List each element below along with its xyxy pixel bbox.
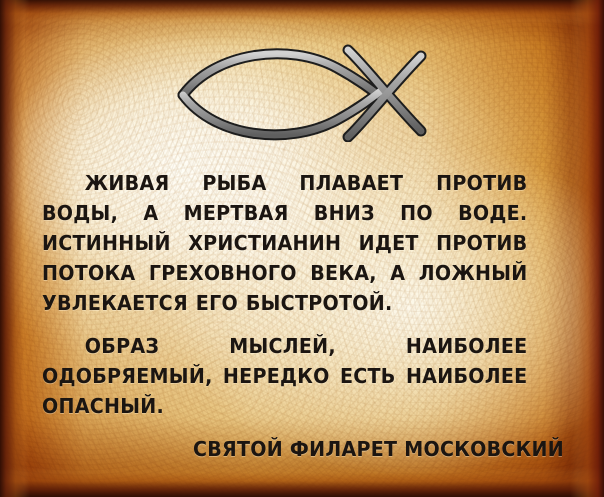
quote-text-block: ЖИВАЯ РЫБА ПЛАВАЕТ ПРОТИВ ВОДЫ, А МЕРТВА…	[42, 168, 564, 464]
quote-paragraph-1: ЖИВАЯ РЫБА ПЛАВАЕТ ПРОТИВ ВОДЫ, А МЕРТВА…	[42, 168, 527, 318]
burnt-edge-top	[0, 0, 604, 26]
symbol-area	[0, 30, 604, 150]
ichthys-fish-icon	[177, 38, 427, 142]
quote-attribution: СВЯТОЙ ФИЛАРЕТ МОСКОВСКИЙ	[79, 434, 564, 464]
quote-paragraph-2: ОБРАЗ МЫСЛЕЙ, НАИБОЛЕЕ ОДОБРЯЕМЫЙ, НЕРЕД…	[42, 331, 527, 421]
burnt-edge-bottom	[0, 467, 604, 497]
parchment-quote-poster: ЖИВАЯ РЫБА ПЛАВАЕТ ПРОТИВ ВОДЫ, А МЕРТВА…	[0, 0, 604, 497]
